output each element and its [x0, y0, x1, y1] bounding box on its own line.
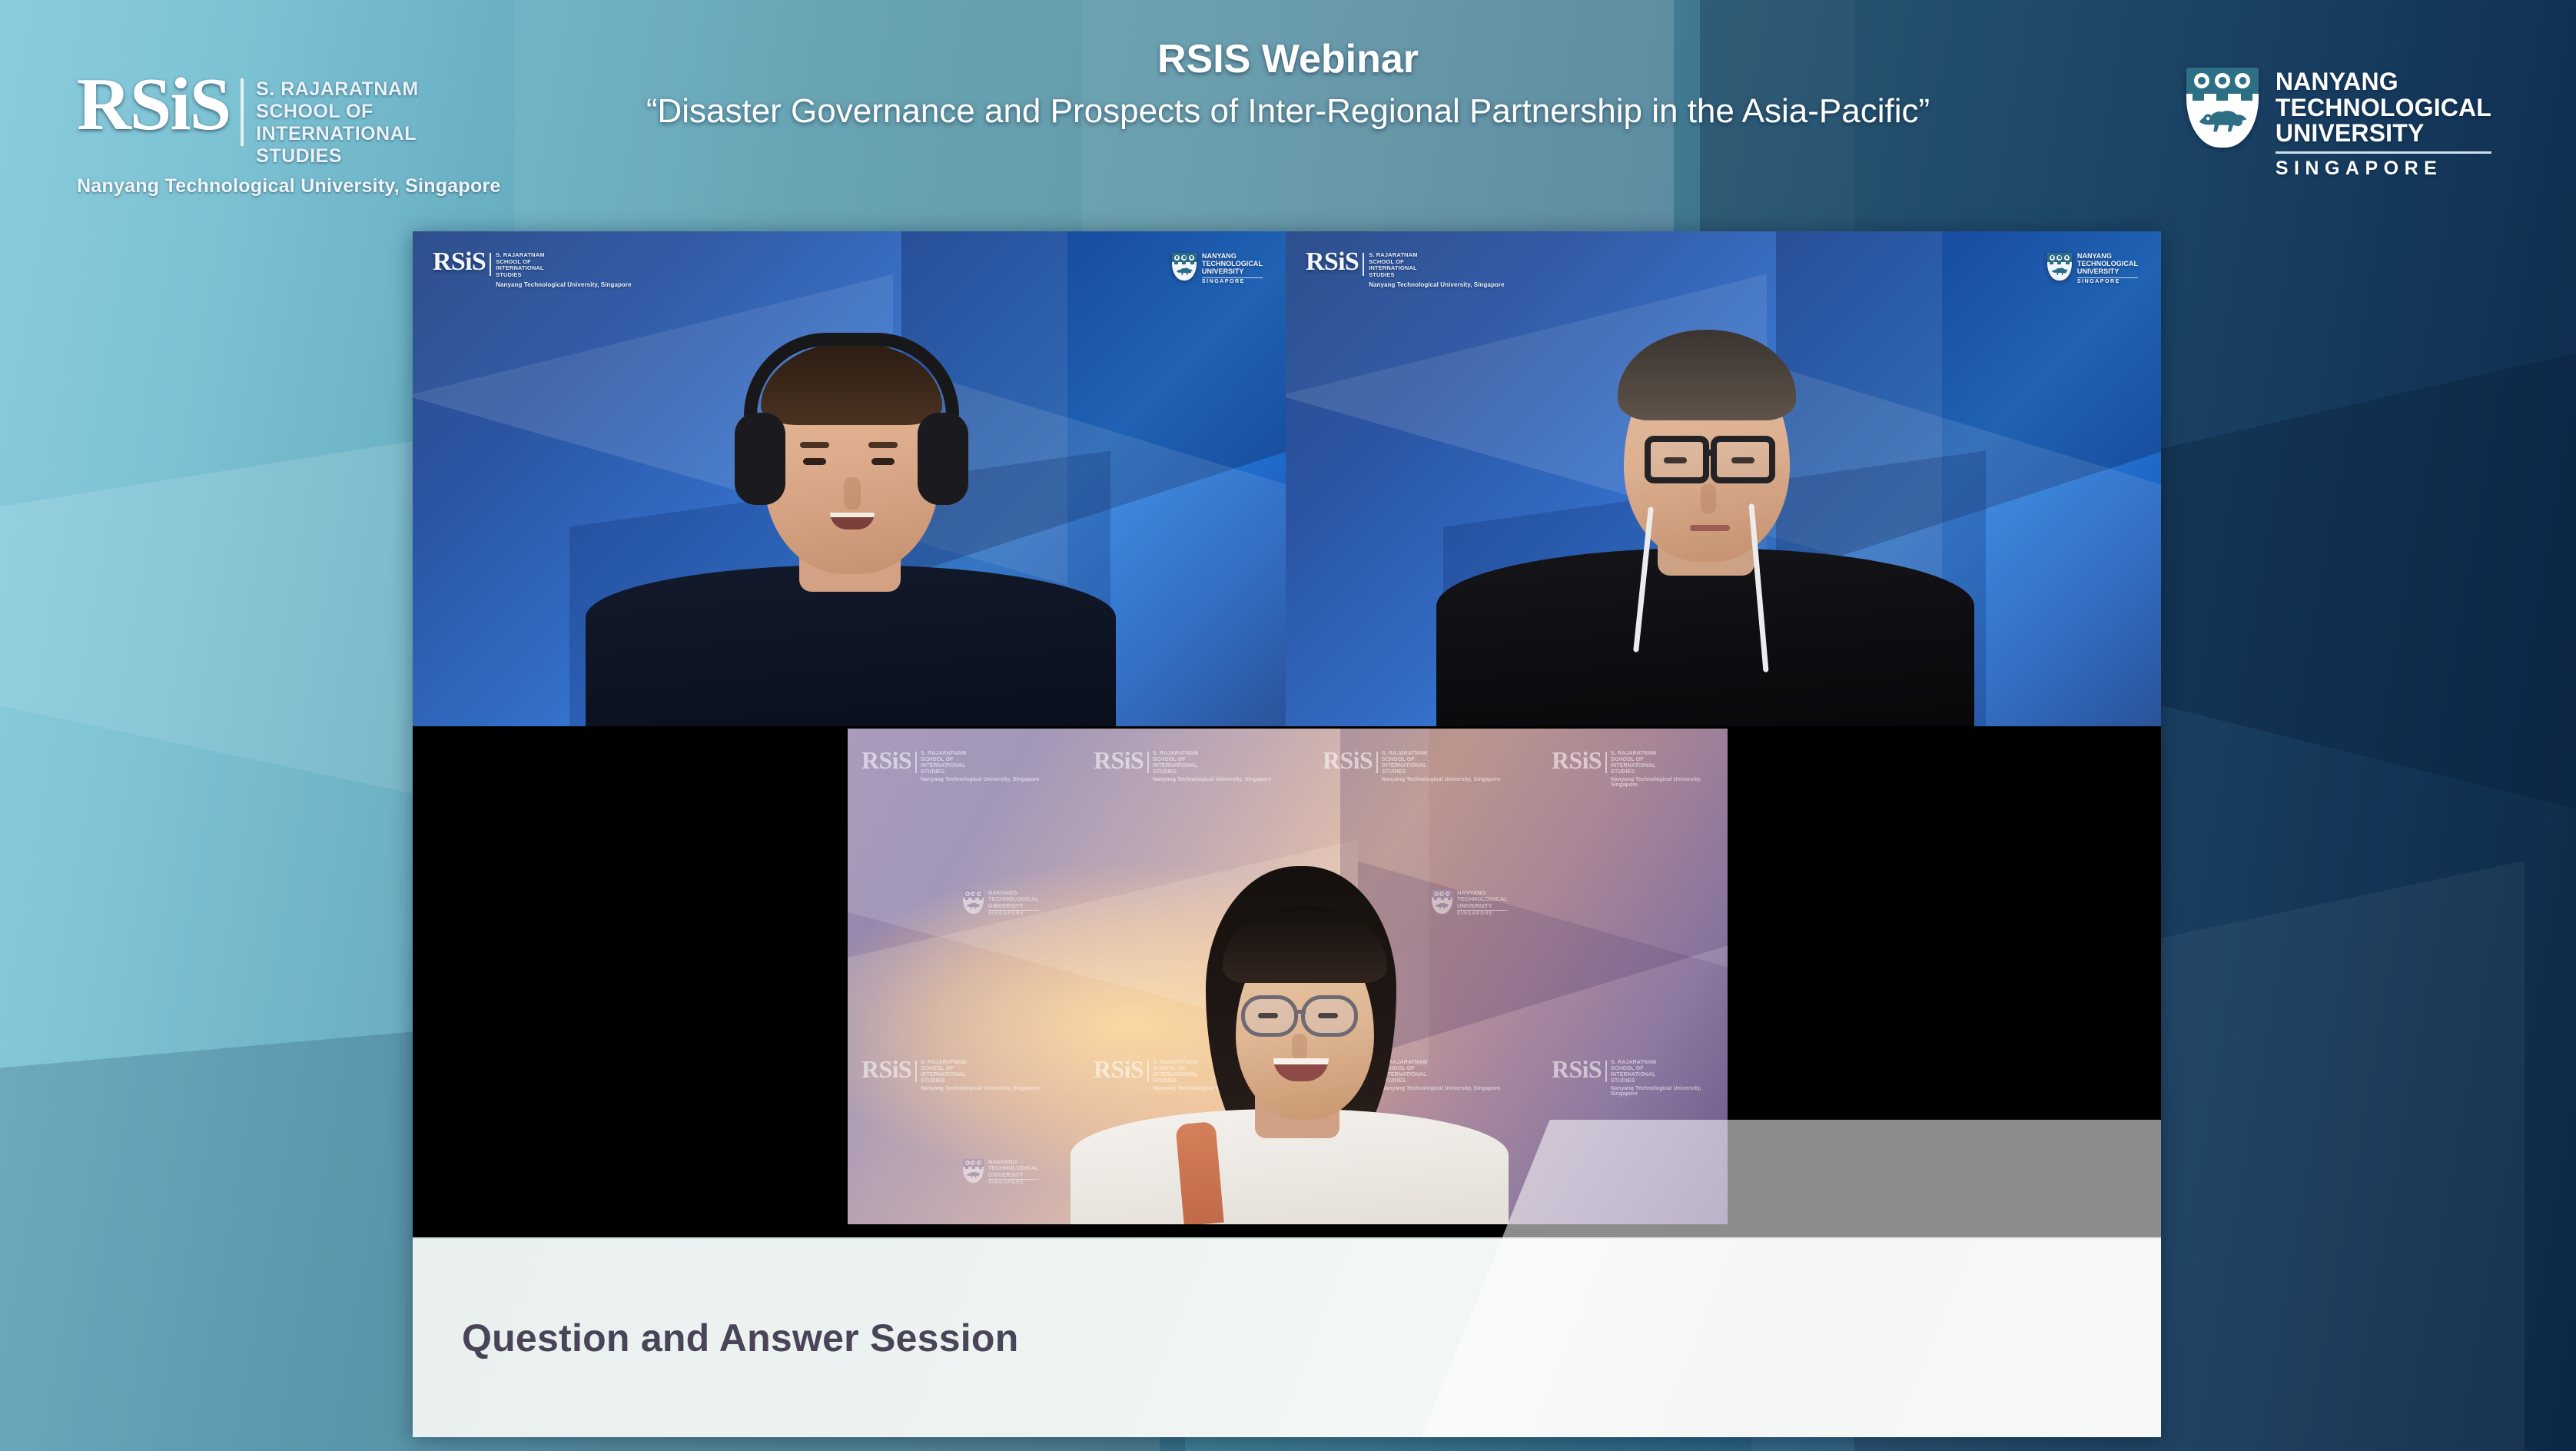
watermark-rsis-logo: RSiSS. RAJARATNAM SCHOOL OF INTERNATIONA… — [861, 750, 1040, 782]
watermark-rsis-logo: RSiSS. RAJARATNAM SCHOOL OF INTERNATIONA… — [1094, 750, 1272, 782]
webinar-subtitle: “Disaster Governance and Prospects of In… — [635, 89, 1941, 133]
participant-avatar — [586, 327, 1116, 726]
rsis-tagline: Nanyang Technological University, Singap… — [1369, 281, 1505, 288]
tile-rsis-logo: RSiS S. RAJARATNAM SCHOOL OF INTERNATION… — [433, 251, 632, 288]
rsis-divider-rule — [1376, 752, 1378, 773]
rsis-divider-rule — [1363, 253, 1364, 276]
webinar-title: RSIS Webinar — [635, 37, 1941, 81]
ntu-shield-lion-crest-icon — [1172, 253, 1197, 281]
ntu-divider — [2276, 151, 2491, 154]
rsis-divider-rule — [1605, 752, 1607, 773]
watermark-rsis-logo: RSiSS. RAJARATNAM SCHOOL OF INTERNATIONA… — [1552, 1059, 1728, 1097]
rsis-tagline: Nanyang Technological University, Singap… — [921, 777, 1039, 782]
ntu-shield-lion-crest-icon — [963, 890, 984, 914]
rsis-divider-rule — [915, 1061, 917, 1082]
rsis-wordmark: RSiS — [1552, 1059, 1602, 1079]
rsis-wordmark: RSiS — [1323, 750, 1373, 770]
ntu-name: NANYANG TECHNOLOGICAL UNIVERSITY — [1202, 253, 1263, 276]
ntu-shield-lion-crest-icon — [2047, 253, 2072, 281]
caption-panel: Question and Answer Session — [413, 1237, 2161, 1437]
watermark-rsis-logo: RSiSS. RAJARATNAM SCHOOL OF INTERNATIONA… — [1323, 750, 1501, 782]
rsis-divider-rule — [1605, 1061, 1607, 1082]
rsis-descriptor: S. RAJARATNAM SCHOOL OF INTERNATIONAL ST… — [1611, 1059, 1728, 1084]
rsis-tagline: Nanyang Technological University, Singap… — [921, 1086, 1039, 1091]
rsis-wordmark: RSiS — [1094, 750, 1144, 770]
rsis-tagline: Nanyang Technological University, Singap… — [496, 281, 632, 288]
webinar-title-block: RSIS Webinar “Disaster Governance and Pr… — [635, 37, 1941, 133]
eyeglasses-icon — [1645, 436, 1709, 483]
rsis-wordmark: RSiS — [1306, 251, 1359, 273]
video-tile-speaker-2[interactable]: RSiS S. RAJARATNAM SCHOOL OF INTERNATION… — [1286, 231, 2161, 726]
ntu-city: SINGAPORE — [988, 911, 1039, 916]
rsis-tagline: Nanyang Technological University, Singap… — [1611, 1086, 1728, 1097]
rsis-descriptor: S. RAJARATNAM SCHOOL OF INTERNATIONAL ST… — [921, 750, 1039, 775]
ntu-divider — [1202, 277, 1263, 278]
rsis-tagline: Nanyang Technological University, Singap… — [1611, 777, 1728, 788]
rsis-divider-rule — [1147, 752, 1149, 773]
rsis-wordmark: RSiS — [433, 251, 486, 273]
rsis-tagline: Nanyang Technological University, Singap… — [1153, 777, 1271, 782]
ntu-divider — [988, 910, 1039, 911]
rsis-descriptor: S. RAJARATNAM SCHOOL OF INTERNATIONAL ST… — [496, 251, 632, 279]
rsis-divider-rule — [915, 752, 917, 773]
rsis-descriptor: S. RAJARATNAM SCHOOL OF INTERNATIONAL ST… — [1369, 251, 1505, 279]
ntu-name: NANYANG TECHNOLOGICAL UNIVERSITY — [2077, 253, 2138, 276]
tile-ntu-logo: NANYANG TECHNOLOGICAL UNIVERSITY SINGAPO… — [2047, 253, 2138, 284]
tile-ntu-logo: NANYANG TECHNOLOGICAL UNIVERSITY SINGAPO… — [1172, 253, 1263, 284]
rsis-descriptor: S. RAJARATNAM SCHOOL OF INTERNATIONAL ST… — [1153, 750, 1271, 775]
ntu-city: SINGAPORE — [2276, 158, 2491, 180]
header: RSiS S. RAJARATNAM SCHOOL OF INTERNATION… — [0, 0, 2576, 231]
ntu-name: NANYANG TECHNOLOGICAL UNIVERSITY — [988, 890, 1039, 909]
video-tile-speaker-1[interactable]: RSiS S. RAJARATNAM SCHOOL OF INTERNATION… — [413, 231, 1286, 726]
rsis-divider-rule — [241, 78, 244, 146]
watermark-rsis-logo: RSiSS. RAJARATNAM SCHOOL OF INTERNATIONA… — [1552, 750, 1728, 788]
ntu-divider — [2077, 277, 2138, 278]
rsis-divider-rule — [490, 253, 491, 276]
headphones-icon — [744, 333, 959, 416]
tile-rsis-logo: RSiS S. RAJARATNAM SCHOOL OF INTERNATION… — [1306, 251, 1505, 288]
video-grid: RSiS S. RAJARATNAM SCHOOL OF INTERNATION… — [413, 231, 2161, 1237]
rsis-descriptor: S. RAJARATNAM SCHOOL OF INTERNATIONAL ST… — [921, 1059, 1039, 1084]
rsis-tagline: Nanyang Technological University, Singap… — [1382, 777, 1500, 782]
lion-icon — [965, 1167, 981, 1180]
ntu-logo: NANYANG TECHNOLOGICAL UNIVERSITY SINGAPO… — [2186, 68, 2491, 180]
participant-avatar — [1071, 825, 1509, 1224]
ntu-shield-lion-crest-icon — [963, 1159, 984, 1183]
rsis-logo-row: RSiS S. RAJARATNAM SCHOOL OF INTERNATION… — [77, 74, 501, 168]
ntu-logo-text: NANYANG TECHNOLOGICAL UNIVERSITY SINGAPO… — [2276, 68, 2491, 180]
lion-icon — [1175, 263, 1193, 277]
rsis-descriptor: S. RAJARATNAM SCHOOL OF INTERNATIONAL ST… — [256, 74, 419, 168]
rsis-descriptor: S. RAJARATNAM SCHOOL OF INTERNATIONAL ST… — [1611, 750, 1728, 775]
meeting-stage[interactable]: RSiS S. RAJARATNAM SCHOOL OF INTERNATION… — [413, 231, 2161, 1437]
rsis-wordmark: RSiS — [77, 74, 230, 135]
rsis-descriptor: S. RAJARATNAM SCHOOL OF INTERNATIONAL ST… — [1382, 750, 1500, 775]
ntu-city: SINGAPORE — [1202, 279, 1263, 284]
ntu-shield-lion-crest-icon — [2186, 68, 2259, 148]
ntu-name: NANYANG TECHNOLOGICAL UNIVERSITY — [988, 1159, 1039, 1178]
watermark-rsis-logo: RSiSS. RAJARATNAM SCHOOL OF INTERNATIONA… — [861, 1059, 1040, 1091]
caption-text: Question and Answer Session — [462, 1316, 1019, 1360]
rsis-wordmark: RSiS — [1552, 750, 1602, 770]
rsis-wordmark: RSiS — [861, 1059, 911, 1079]
rsis-wordmark: RSiS — [861, 750, 911, 770]
rsis-logo: RSiS S. RAJARATNAM SCHOOL OF INTERNATION… — [77, 74, 501, 198]
watermark-ntu-logo: NANYANG TECHNOLOGICAL UNIVERSITYSINGAPOR… — [963, 890, 1039, 916]
watermark-ntu-logo: NANYANG TECHNOLOGICAL UNIVERSITYSINGAPOR… — [963, 1159, 1039, 1185]
ntu-divider — [988, 1179, 1039, 1180]
ntu-city: SINGAPORE — [2077, 279, 2138, 284]
ntu-city: SINGAPORE — [988, 1180, 1039, 1185]
lion-icon — [2195, 96, 2249, 138]
eyeglasses-icon — [1241, 995, 1298, 1037]
rsis-tagline: Nanyang Technological University, Singap… — [77, 175, 501, 198]
lion-icon — [965, 898, 981, 911]
lion-icon — [2050, 263, 2069, 277]
participant-avatar — [1436, 304, 1974, 726]
ntu-name: NANYANG TECHNOLOGICAL UNIVERSITY — [2276, 69, 2491, 147]
